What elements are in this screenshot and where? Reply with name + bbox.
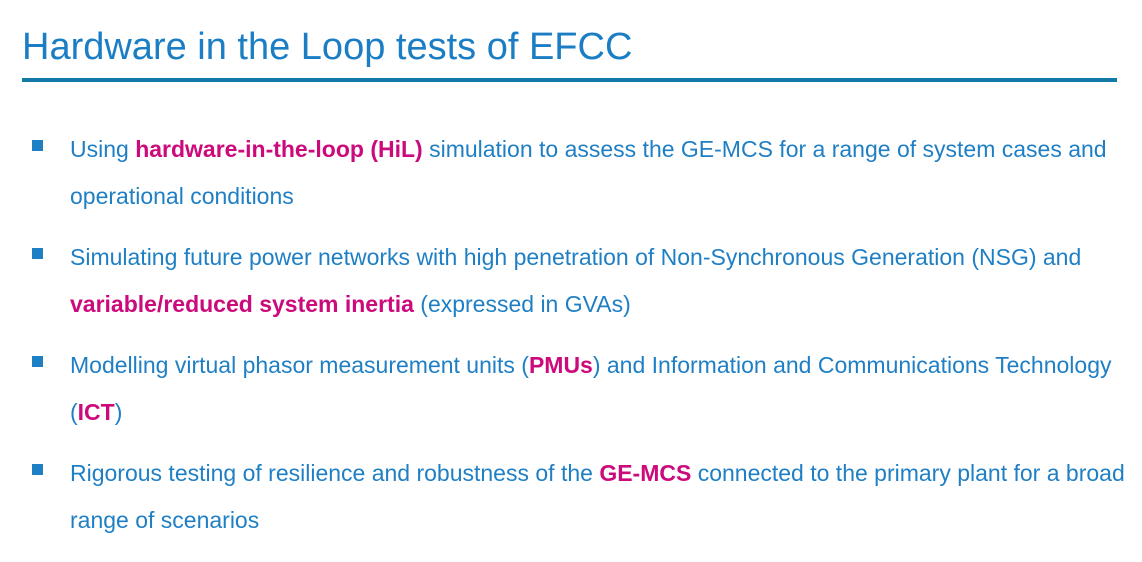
list-item: Using hardware-in-the-loop (HiL) simulat… [32,126,1132,220]
body-text: Simulating future power networks with hi… [70,244,1081,270]
bullet-text-virtual-pmus-ict: Modelling virtual phasor measurement uni… [70,352,1112,425]
emphasis-text: hardware-in-the-loop (HiL) [135,136,422,162]
square-bullet-icon [32,356,43,367]
body-text: Using [70,136,135,162]
emphasis-text: PMUs [529,352,593,378]
body-text: Modelling virtual phasor measurement uni… [70,352,529,378]
body-text: ) [115,399,123,425]
bullet-list: Using hardware-in-the-loop (HiL) simulat… [32,126,1132,558]
emphasis-text: variable/reduced system inertia [70,291,414,317]
title-block: Hardware in the Loop tests of EFCC [22,24,1117,82]
list-item: Rigorous testing of resilience and robus… [32,450,1132,544]
bullet-text-resilience-testing: Rigorous testing of resilience and robus… [70,460,1125,533]
title-underline-rule [22,78,1117,82]
page-title: Hardware in the Loop tests of EFCC [22,24,1117,70]
bullet-text-future-power-networks: Simulating future power networks with hi… [70,244,1081,317]
list-item: Modelling virtual phasor measurement uni… [32,342,1132,436]
emphasis-text: GE-MCS [599,460,691,486]
square-bullet-icon [32,248,43,259]
body-text: Rigorous testing of resilience and robus… [70,460,599,486]
list-item: Simulating future power networks with hi… [32,234,1132,328]
emphasis-text: ICT [78,399,115,425]
body-text: (expressed in GVAs) [414,291,631,317]
slide-canvas: Hardware in the Loop tests of EFCC Using… [0,0,1142,562]
square-bullet-icon [32,464,43,475]
square-bullet-icon [32,140,43,151]
bullet-text-hil-simulation: Using hardware-in-the-loop (HiL) simulat… [70,136,1107,209]
